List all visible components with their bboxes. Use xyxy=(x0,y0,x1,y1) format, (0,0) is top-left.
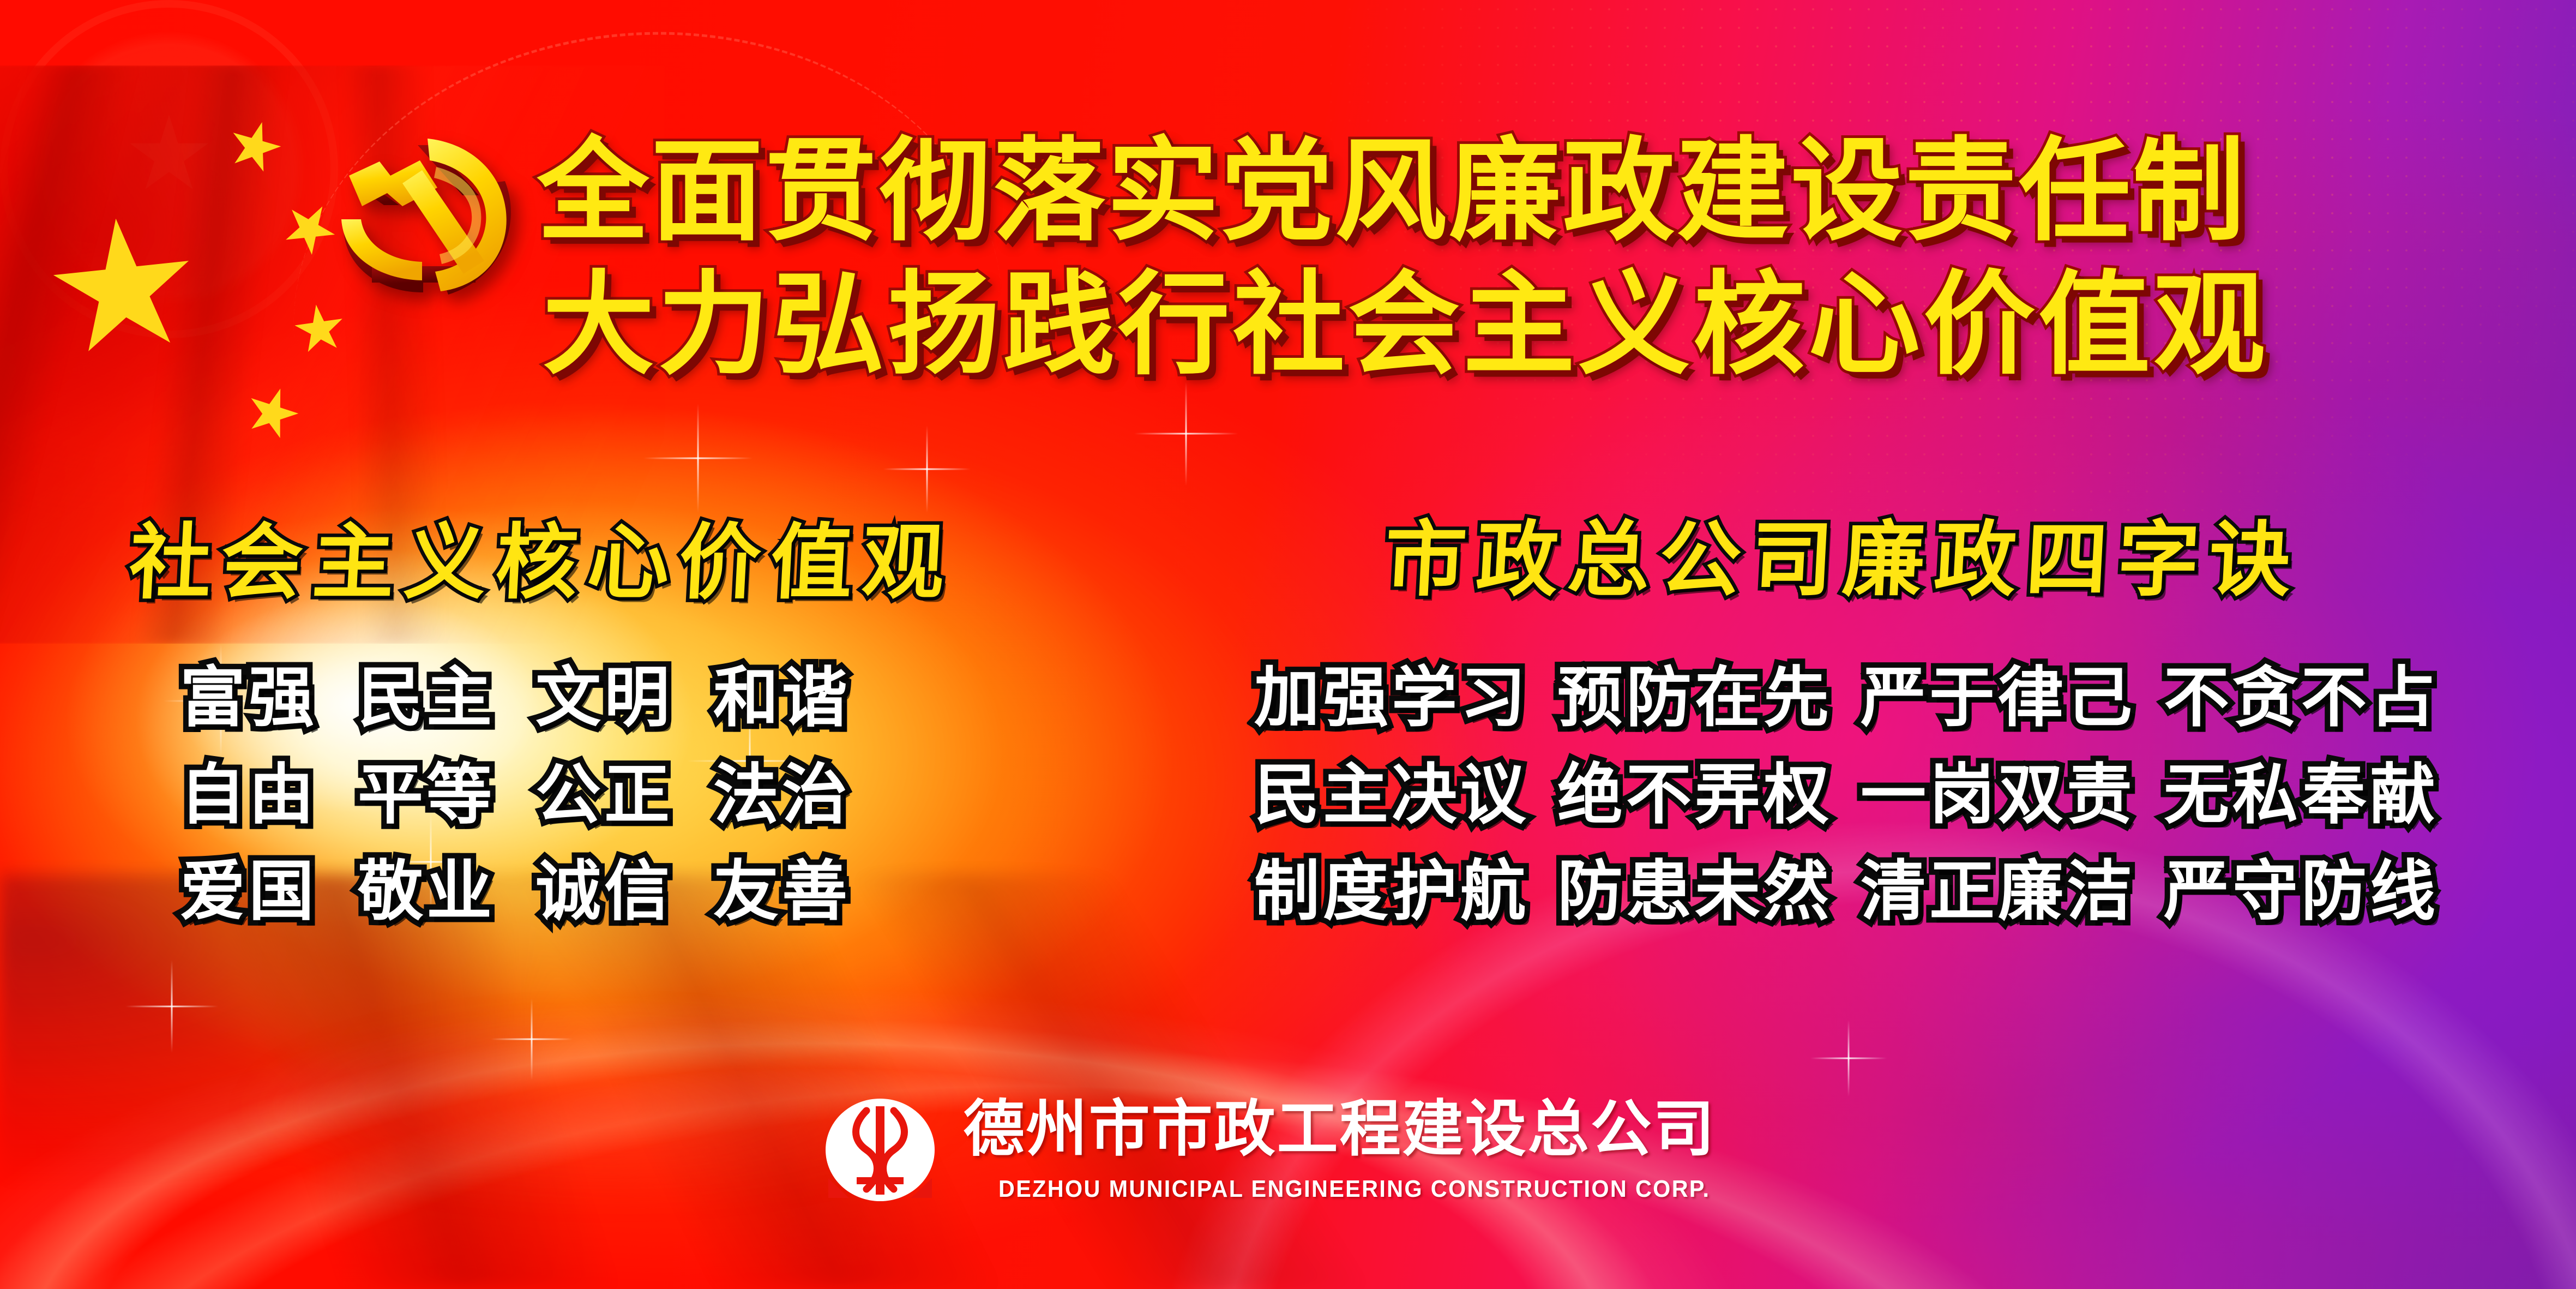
value-item: 富强 xyxy=(180,663,317,734)
value-row: 制度护航 防患未然 清正廉洁 严守防线 xyxy=(1254,856,2467,927)
value-item: 严守防线 xyxy=(2164,856,2439,927)
value-item: 不贪不占 xyxy=(2164,663,2439,734)
value-item: 制度护航 xyxy=(1254,856,1529,927)
value-item: 一岗双责 xyxy=(1861,760,2135,831)
propaganda-banner: 全面贯彻落实党风廉政建设责任制 大力弘扬践行社会主义核心价值观 社会主义核心价值… xyxy=(0,0,2576,1289)
value-item: 民主决议 xyxy=(1254,760,1529,831)
value-row: 自由 平等 公正 法治 xyxy=(180,760,891,831)
value-row: 爱国 敬业 诚信 友善 xyxy=(180,856,891,927)
value-item: 法治 xyxy=(713,760,851,831)
section-heading-core-socialist-values: 社会主义核心价值观 xyxy=(127,496,957,615)
value-item: 友善 xyxy=(713,856,851,927)
banner-headline: 全面贯彻落实党风廉政建设责任制 大力弘扬践行社会主义核心价值观 xyxy=(537,135,2418,381)
value-item: 严于律己 xyxy=(1861,663,2135,734)
value-row: 加强学习 预防在先 严于律己 不贪不占 xyxy=(1254,663,2467,734)
value-item: 和谐 xyxy=(713,663,851,734)
cpc-party-emblem-icon xyxy=(321,123,533,309)
value-item: 自由 xyxy=(180,760,317,831)
company-name-en: DEZHOU MUNICIPAL ENGINEERING CONSTRUCTIO… xyxy=(998,1176,1710,1203)
value-item: 公正 xyxy=(535,760,673,831)
value-item: 清正廉洁 xyxy=(1861,856,2135,927)
value-item: 预防在先 xyxy=(1557,663,1832,734)
company-logo-icon xyxy=(821,1096,940,1203)
value-item: 敬业 xyxy=(358,856,495,927)
value-item: 民主 xyxy=(358,663,495,734)
value-item: 爱国 xyxy=(180,856,317,927)
value-item: 文明 xyxy=(535,663,673,734)
footer-text-block: 德州市市政工程建设总公司 DEZHOU MUNICIPAL ENGINEERIN… xyxy=(964,1097,1756,1203)
value-row: 民主决议 绝不弄权 一岗双责 无私奉献 xyxy=(1254,760,2467,831)
section-heading-integrity-mottos: 市政总公司廉政四字诀 xyxy=(1382,494,2304,612)
headline-line-1: 全面贯彻落实党风廉政建设责任制 xyxy=(537,135,2418,247)
company-name-cn: 德州市市政工程建设总公司 xyxy=(964,1097,1756,1161)
value-item: 绝不弄权 xyxy=(1557,760,1832,831)
value-item: 加强学习 xyxy=(1254,663,1529,734)
footer-company-block: 德州市市政工程建设总公司 DEZHOU MUNICIPAL ENGINEERIN… xyxy=(0,1096,2576,1203)
value-row: 富强 民主 文明 和谐 xyxy=(180,663,891,734)
value-item: 诚信 xyxy=(535,856,673,927)
headline-line-2: 大力弘扬践行社会主义核心价值观 xyxy=(537,269,2418,381)
value-item: 防患未然 xyxy=(1557,856,1832,927)
value-item: 无私奉献 xyxy=(2164,760,2439,831)
value-item: 平等 xyxy=(358,760,495,831)
integrity-mottos-column: 加强学习 预防在先 严于律己 不贪不占 民主决议 绝不弄权 一岗双责 无私奉献 … xyxy=(1254,663,2467,954)
core-socialist-values-column: 富强 民主 文明 和谐 自由 平等 公正 法治 爱国 敬业 诚信 友善 xyxy=(180,663,891,954)
